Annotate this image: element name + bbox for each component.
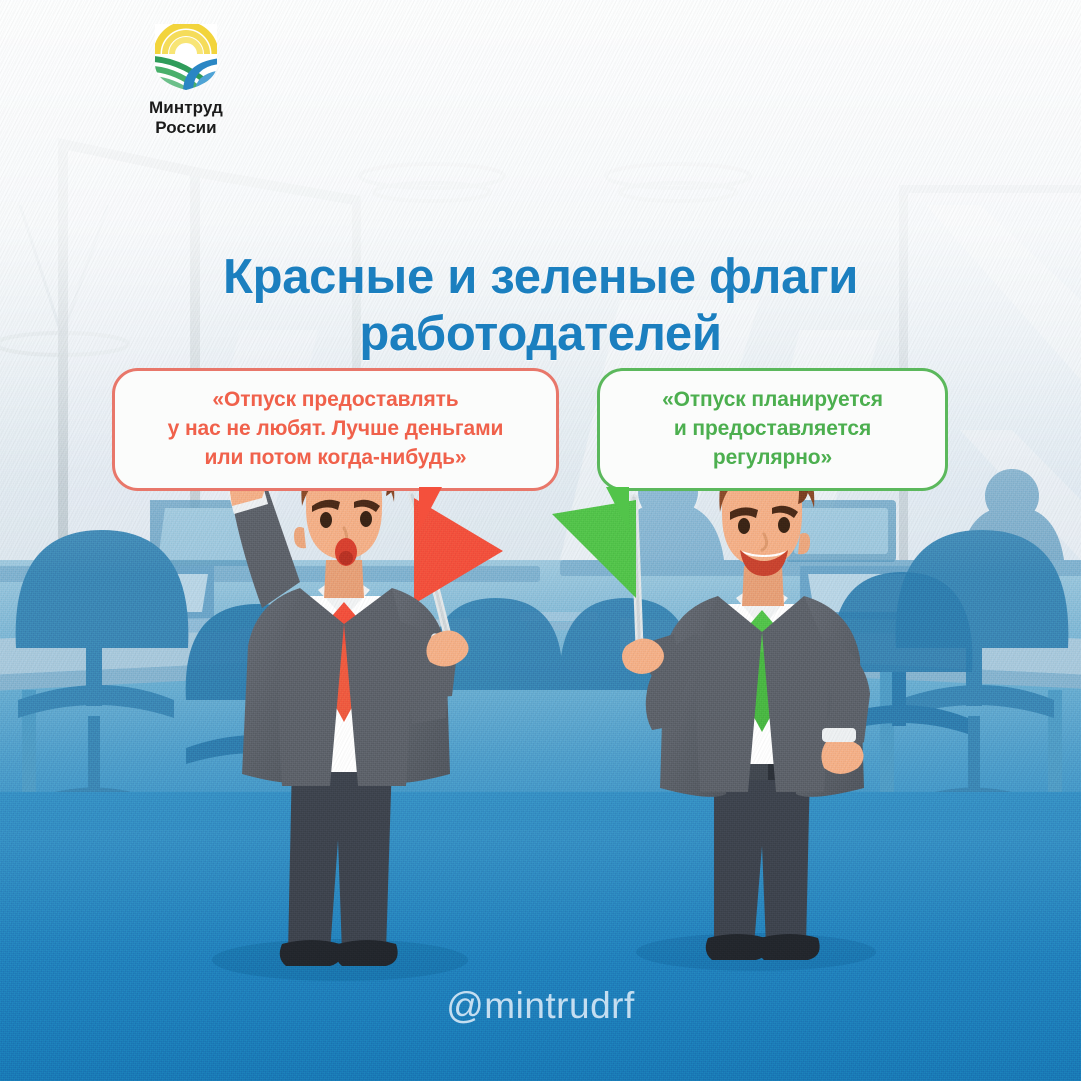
green-flag-speech-bubble: «Отпуск планируется и предоставляется ре… [597, 368, 948, 491]
green-flag-quote-text: «Отпуск планируется и предоставляется ре… [662, 386, 883, 473]
page-title: Красные и зеленые флаги работодателей [0, 249, 1081, 363]
character-illustrations [0, 0, 1081, 1081]
mintrud-logo-block: Минтруд России [96, 20, 276, 138]
mintrud-emblem-icon [147, 20, 225, 92]
red-flag-speech-bubble: «Отпуск предоставлять у нас не любят. Лу… [112, 368, 559, 491]
red-flag-quote-text: «Отпуск предоставлять у нас не любят. Лу… [168, 386, 504, 473]
left-character-group [223, 409, 503, 966]
green-bubble-tail [606, 487, 629, 531]
social-handle-watermark: @mintrudrf [0, 985, 1081, 1027]
poster-canvas: Минтруд России Красные и зеленые флаги р… [0, 0, 1081, 1081]
mintrud-logo-label: Минтруд России [96, 98, 276, 138]
red-bubble-tail [419, 487, 442, 531]
right-character-group [552, 448, 870, 960]
